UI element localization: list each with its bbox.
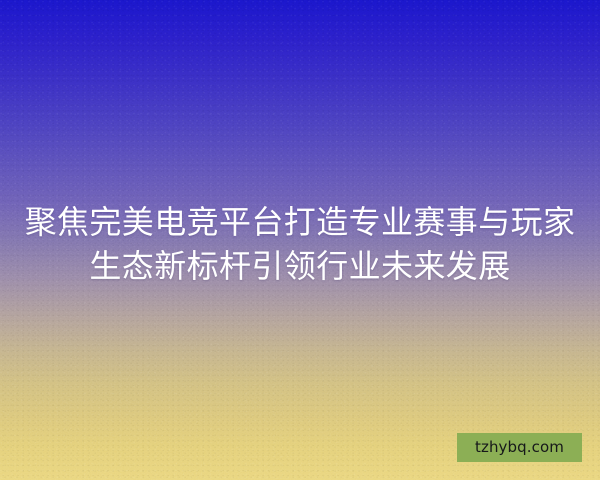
page-title: 聚焦完美电竞平台打造专业赛事与玩家生态新标杆引领行业未来发展: [0, 200, 600, 288]
watermark-label: tzhybq.com: [475, 440, 564, 455]
banner-title-text: 聚焦完美电竞平台打造专业赛事与玩家生态新标杆引领行业未来发展: [22, 200, 578, 288]
watermark-badge: tzhybq.com: [457, 433, 582, 462]
banner-image: 聚焦完美电竞平台打造专业赛事与玩家生态新标杆引领行业未来发展 tzhybq.co…: [0, 0, 600, 480]
